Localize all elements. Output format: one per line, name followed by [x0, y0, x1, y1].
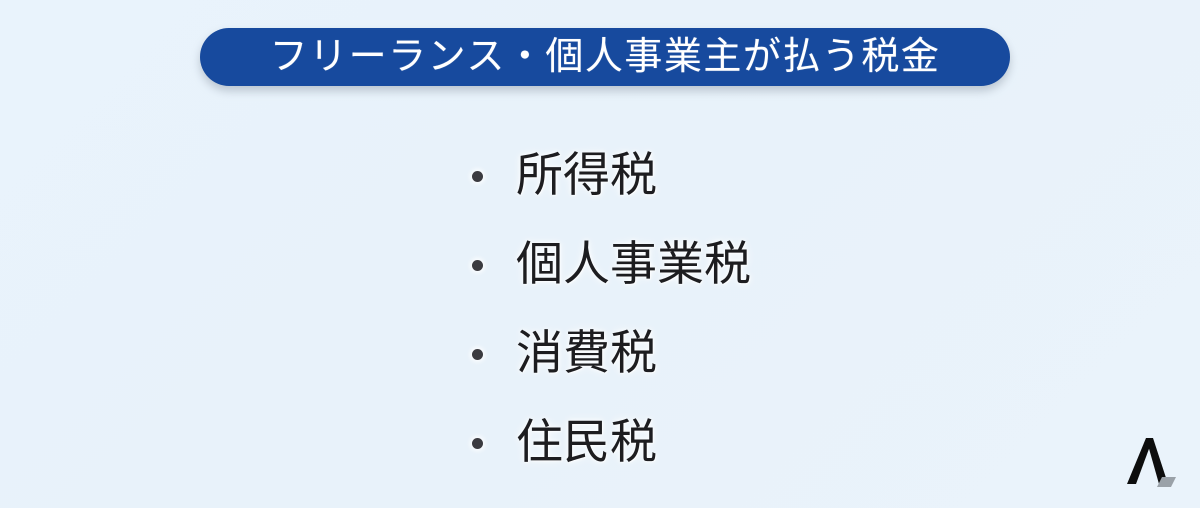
- chevron-logo-icon: [1124, 432, 1186, 490]
- list-item-label: 個人事業税: [516, 242, 751, 289]
- slide-canvas: フリーランス・個人事業主が払う税金 所得税 個人事業税 消費税 住民税: [0, 0, 1200, 508]
- list-item: 消費税: [472, 310, 1032, 399]
- bullet-dot-icon: [472, 349, 483, 360]
- bullet-dot-icon: [472, 260, 483, 271]
- tax-type-list: 所得税 個人事業税 消費税 住民税: [472, 132, 1032, 488]
- list-item: 住民税: [472, 399, 1032, 488]
- list-item-label: 所得税: [516, 153, 657, 200]
- list-item: 個人事業税: [472, 221, 1032, 310]
- list-item: 所得税: [472, 132, 1032, 221]
- bullet-dot-icon: [472, 171, 483, 182]
- bullet-dot-icon: [472, 438, 483, 449]
- page-title: フリーランス・個人事業主が払う税金: [270, 38, 941, 76]
- title-banner: フリーランス・個人事業主が払う税金: [200, 28, 1010, 86]
- list-item-label: 消費税: [516, 331, 657, 378]
- list-item-label: 住民税: [516, 420, 657, 467]
